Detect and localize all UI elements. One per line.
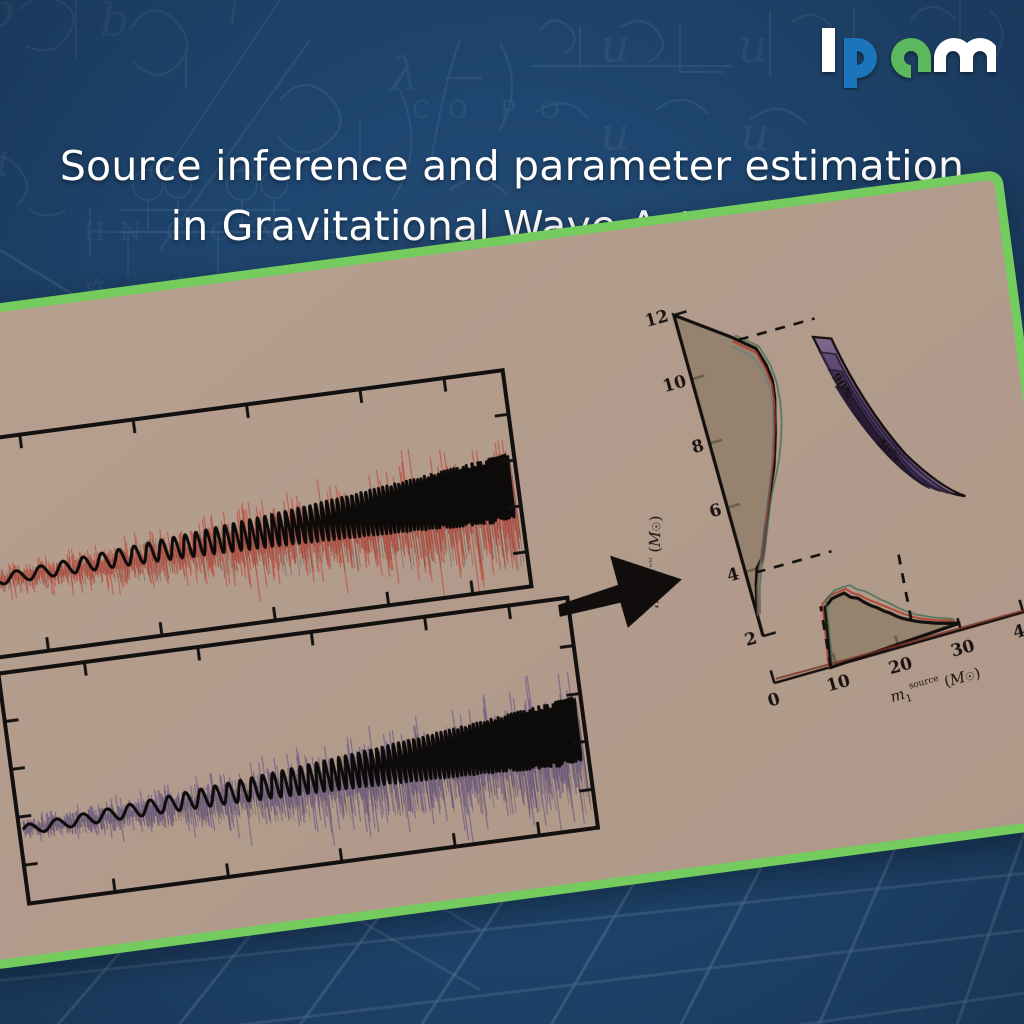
figure-card[interactable]: 12 10 8 6 4 2 m2source (M☉): [0, 169, 1024, 970]
y-tick-10: 10: [661, 371, 689, 397]
slide-canvas: H N C C N C O O H C O P O b b u u λ u u …: [0, 0, 1024, 1024]
x-tick-20: 20: [887, 653, 915, 679]
logo-letter-a: [891, 38, 931, 78]
x-tick-40: 40: [1011, 618, 1024, 644]
y-tick-4: 4: [725, 564, 742, 586]
chirp-model-waveform: [16, 698, 583, 838]
x-tick-30: 30: [949, 636, 977, 662]
y-tick-6: 6: [707, 500, 724, 522]
joint-posterior-contours: 90% 50%: [813, 320, 965, 514]
figure-card-border: 12 10 8 6 4 2 m2source (M☉): [0, 169, 1024, 970]
slide-title-line1: Source inference and parameter estimatio…: [60, 142, 964, 190]
y-tick-2: 2: [743, 628, 760, 650]
mass-posterior-svg: 12 10 8 6 4 2 m2source (M☉): [614, 248, 1024, 777]
y-tick-12: 12: [643, 306, 671, 332]
ipam-logo[interactable]: [816, 14, 996, 90]
y-tick-8: 8: [690, 436, 707, 458]
mass-posterior-plot: 12 10 8 6 4 2 m2source (M☉): [614, 248, 1024, 777]
logo-letter-p: [844, 38, 877, 88]
figure-card-body: 12 10 8 6 4 2 m2source (M☉): [0, 180, 1024, 961]
logo-letter-m: [934, 38, 996, 72]
logo-letter-i: [822, 28, 835, 72]
x-tick-10: 10: [824, 671, 852, 697]
m2-marginal-histogram: [674, 303, 811, 643]
x-tick-0: 0: [766, 689, 783, 711]
